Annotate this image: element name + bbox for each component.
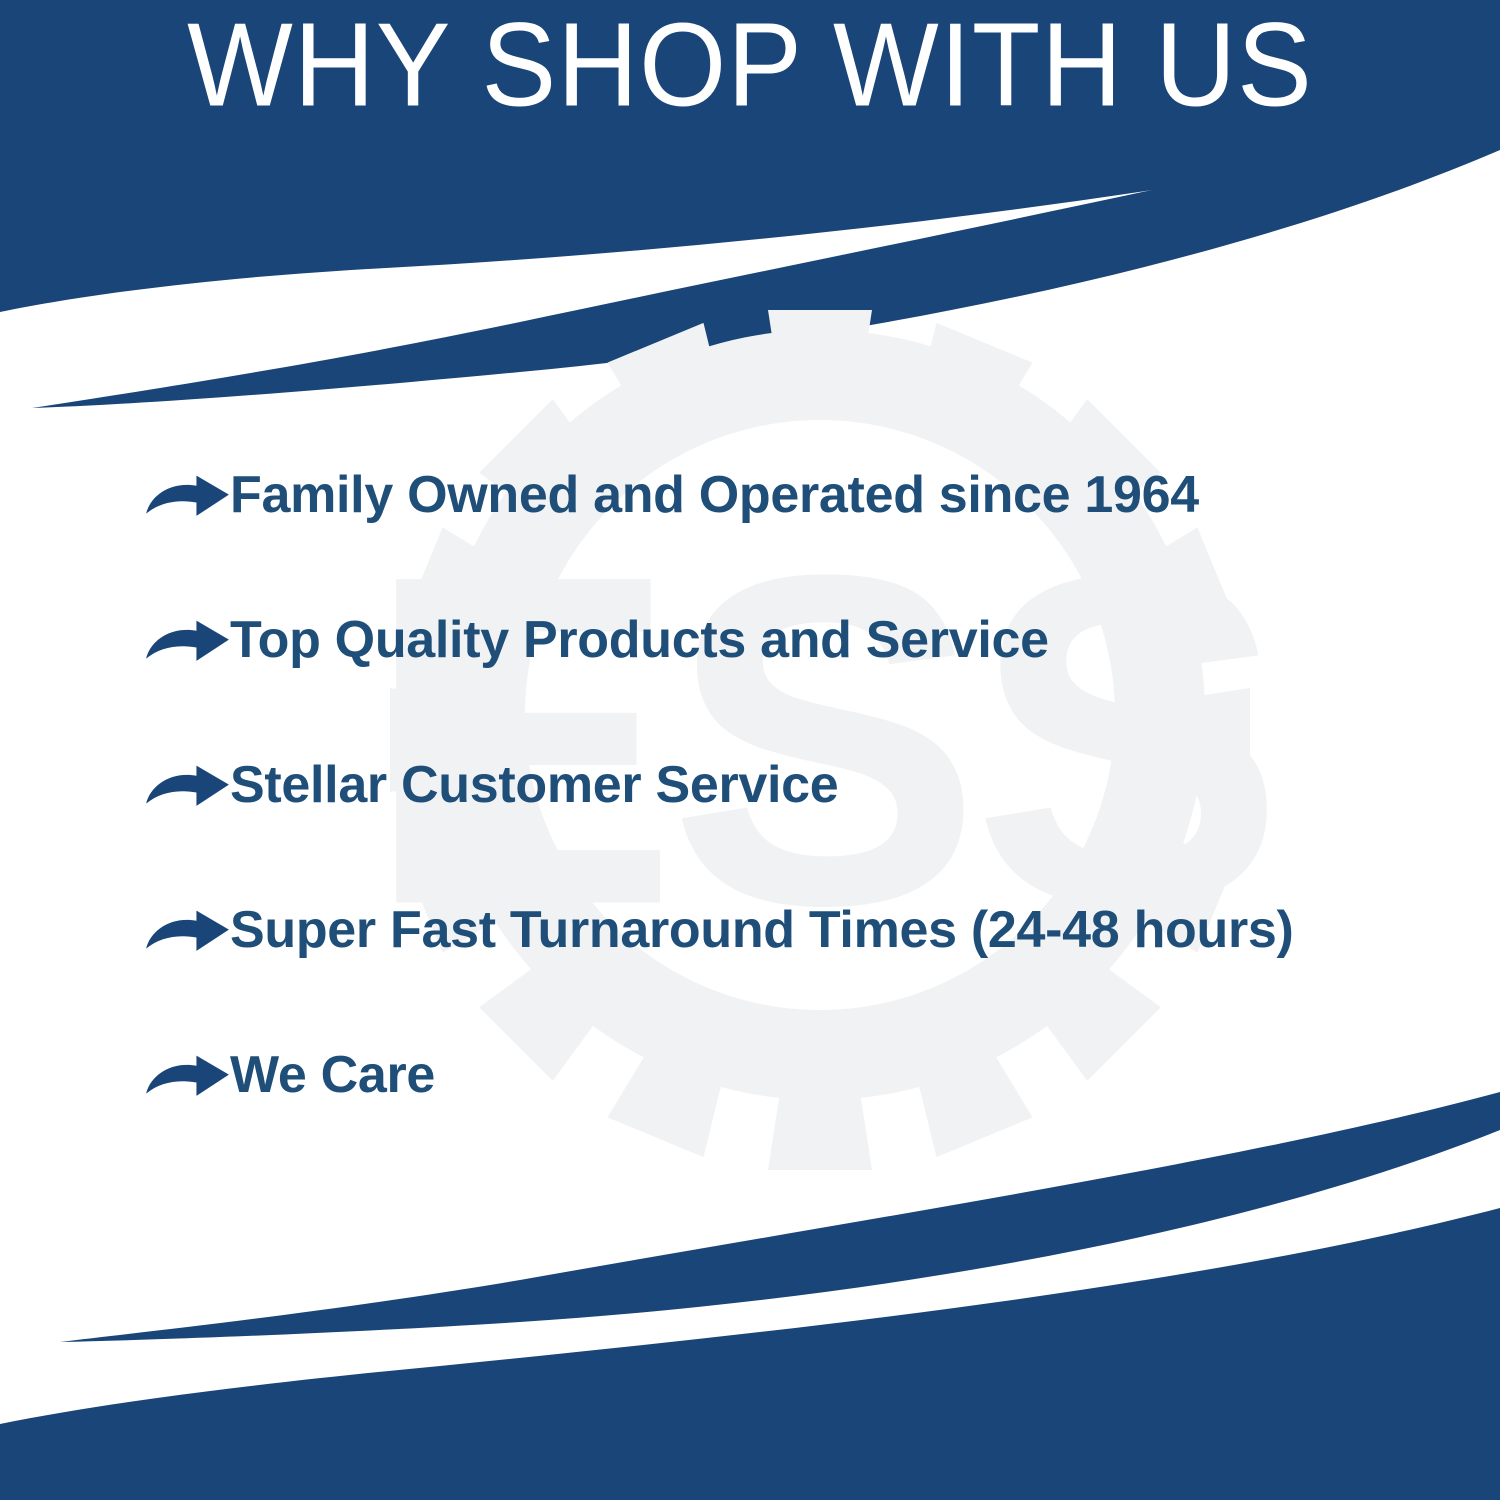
curved-arrow-right-icon [0, 893, 230, 973]
list-item: We Care [0, 1005, 1500, 1150]
benefit-label: We Care [230, 1048, 435, 1103]
promo-graphic: ESS WHY SHOP WITH US Family Owned and Op… [0, 0, 1500, 1500]
benefit-label: Super Fast Turnaround Times (24-48 hours… [230, 903, 1294, 958]
curved-arrow-right-icon [0, 603, 230, 683]
list-item: Top Quality Products and Service [0, 570, 1500, 715]
top-wave-swoosh [0, 0, 1500, 312]
curved-arrow-right-icon [0, 1038, 230, 1118]
benefit-label: Top Quality Products and Service [230, 613, 1049, 668]
list-item: Family Owned and Operated since 1964 [0, 425, 1500, 570]
list-item: Stellar Customer Service [0, 715, 1500, 860]
benefit-label: Stellar Customer Service [230, 758, 838, 813]
curved-arrow-right-icon [0, 748, 230, 828]
benefits-list: Family Owned and Operated since 1964 Top… [0, 425, 1500, 1150]
curved-arrow-right-icon [0, 458, 230, 538]
benefit-label: Family Owned and Operated since 1964 [230, 468, 1199, 523]
list-item: Super Fast Turnaround Times (24-48 hours… [0, 860, 1500, 1005]
